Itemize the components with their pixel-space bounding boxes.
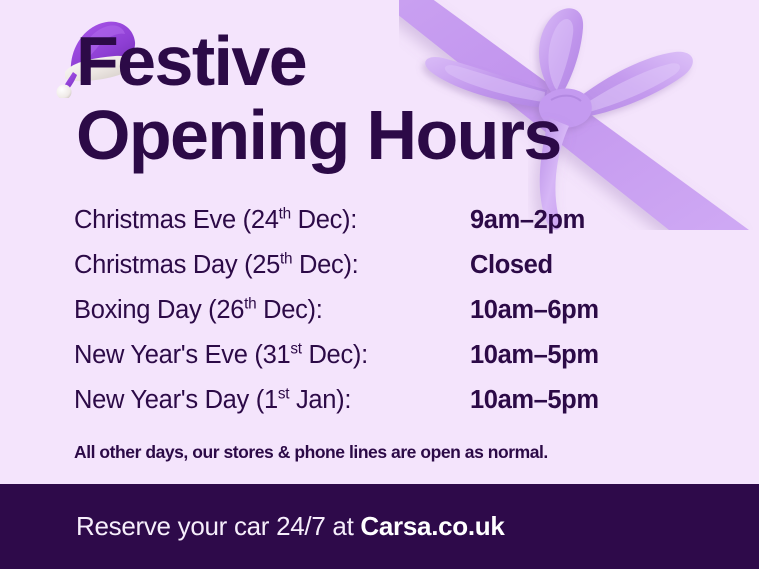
festive-opening-hours-poster: Festive Opening Hours Christmas Eve (24t… — [0, 0, 759, 569]
footer-cta-text: Reserve your car 24/7 at Carsa.co.uk — [76, 511, 505, 542]
hours-label-suffix: Dec): — [302, 341, 368, 369]
hours-label-suffix: Jan): — [289, 386, 351, 414]
hours-row: Christmas Eve (24th Dec): 9am–2pm — [74, 206, 714, 251]
hours-row-value: 10am–6pm — [470, 296, 599, 325]
hours-label-ordinal: th — [280, 251, 292, 268]
hours-label-ordinal: th — [279, 206, 291, 223]
hours-row-value: Closed — [470, 251, 553, 280]
hours-row-label: Christmas Day (25th Dec): — [74, 251, 470, 280]
hours-row-value: 10am–5pm — [470, 386, 599, 415]
page-title: Festive Opening Hours — [76, 24, 716, 172]
hours-label-prefix: Boxing Day (26 — [74, 296, 244, 324]
hours-label-prefix: Christmas Eve (24 — [74, 206, 279, 234]
hours-row-label: Christmas Eve (24th Dec): — [74, 206, 470, 235]
hours-label-prefix: New Year's Day (1 — [74, 386, 278, 414]
footnote-text: All other days, our stores & phone lines… — [74, 442, 548, 463]
hours-label-suffix: Dec): — [256, 296, 322, 324]
footer-banner: Reserve your car 24/7 at Carsa.co.uk — [0, 484, 759, 569]
hours-label-ordinal: st — [290, 341, 301, 358]
hours-row-label: New Year's Day (1st Jan): — [74, 386, 470, 415]
hours-row: New Year's Eve (31st Dec): 10am–5pm — [74, 341, 714, 386]
hours-row-label: New Year's Eve (31st Dec): — [74, 341, 470, 370]
hours-label-prefix: Christmas Day (25 — [74, 251, 280, 279]
hours-label-prefix: New Year's Eve (31 — [74, 341, 290, 369]
hours-label-ordinal: th — [244, 296, 256, 313]
hours-row: Christmas Day (25th Dec): Closed — [74, 251, 714, 296]
title-line-1: Festive — [76, 24, 716, 98]
hours-row: Boxing Day (26th Dec): 10am–6pm — [74, 296, 714, 341]
hours-row-value: 10am–5pm — [470, 341, 599, 370]
hours-row-label: Boxing Day (26th Dec): — [74, 296, 470, 325]
footer-lead-text: Reserve your car 24/7 at — [76, 511, 360, 541]
hours-label-ordinal: st — [278, 386, 289, 403]
hours-row-value: 9am–2pm — [470, 206, 585, 235]
brand-name: Carsa.co.uk — [360, 511, 504, 541]
hours-row: New Year's Day (1st Jan): 10am–5pm — [74, 386, 714, 431]
title-line-2: Opening Hours — [76, 98, 716, 172]
hours-label-suffix: Dec): — [291, 206, 357, 234]
hours-label-suffix: Dec): — [292, 251, 358, 279]
opening-hours-list: Christmas Eve (24th Dec): 9am–2pm Christ… — [74, 206, 714, 431]
